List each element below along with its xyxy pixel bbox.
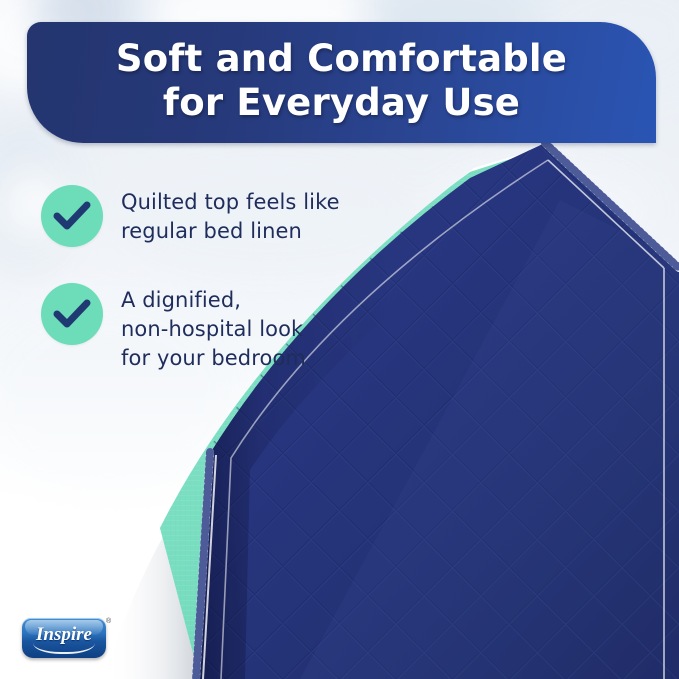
feature-text: A dignified, non-hospital look for your … bbox=[121, 283, 306, 373]
logo-wordmark: Inspire bbox=[22, 625, 106, 644]
feature-item: A dignified, non-hospital look for your … bbox=[41, 283, 371, 373]
check-icon bbox=[41, 283, 103, 345]
check-icon bbox=[41, 185, 103, 247]
header-title-line-1: Soft and Comfortable bbox=[116, 37, 567, 81]
bokeh-blob bbox=[420, 150, 660, 270]
product-marketing-image: Soft and Comfortable for Everyday Use Qu… bbox=[0, 0, 679, 679]
feature-text: Quilted top feels like regular bed linen bbox=[121, 185, 340, 246]
feature-item: Quilted top feels like regular bed linen bbox=[41, 185, 371, 247]
header-banner: Soft and Comfortable for Everyday Use bbox=[27, 22, 656, 143]
registered-trademark-symbol: ® bbox=[106, 618, 111, 625]
feature-list: Quilted top feels like regular bed linen… bbox=[41, 185, 371, 409]
logo-swoosh-icon bbox=[33, 643, 95, 654]
logo-plate: Inspire bbox=[22, 618, 106, 658]
header-title-line-2: for Everyday Use bbox=[116, 81, 567, 125]
brand-logo: Inspire ® bbox=[22, 618, 110, 660]
